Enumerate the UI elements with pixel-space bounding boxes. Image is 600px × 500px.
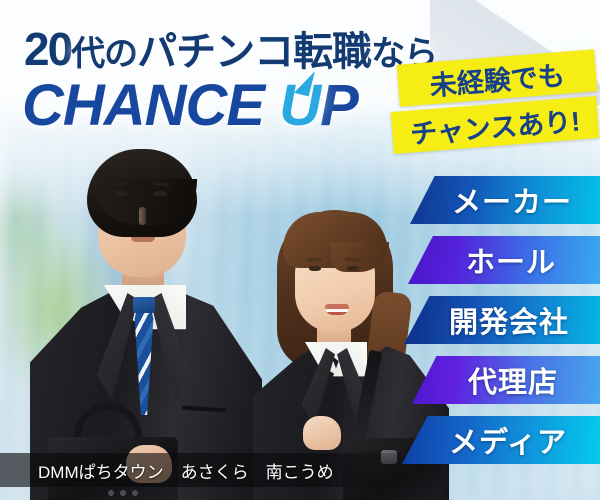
recruitment-banner: 20代のパチンコ転職なら CHANCE UP 未経験でも チャンスあり! メーカ… <box>0 0 600 500</box>
man-eye-left <box>114 191 127 196</box>
category-label-hall: ホール <box>452 239 556 281</box>
briefcase-studs <box>106 489 140 497</box>
credit-bar: DMMぱちタウン あさくら 南こうめ <box>0 453 412 487</box>
chance-up-logo: CHANCE UP <box>22 72 358 139</box>
woman-hand <box>303 416 341 450</box>
category-label-maker: メーカー <box>438 179 572 221</box>
credit-text: DMMぱちタウン あさくら 南こうめ <box>0 458 334 483</box>
category-button-agency[interactable]: 代理店 <box>412 356 600 404</box>
headline-number: 20 <box>24 23 71 75</box>
man-necktie-knot <box>133 297 155 313</box>
headline: 20代のパチンコ転職なら <box>24 19 437 77</box>
man-nose <box>139 207 146 225</box>
businessman-figure <box>30 145 265 500</box>
category-button-maker[interactable]: メーカー <box>410 176 600 224</box>
woman-smiling-mouth <box>325 304 349 315</box>
woman-eye-right <box>347 266 359 271</box>
category-label-development-company: 開発会社 <box>435 299 569 341</box>
category-list: メーカー ホール 開発会社 代理店 メディア <box>390 176 600 476</box>
category-button-hall[interactable]: ホール <box>408 236 600 284</box>
category-button-development-company[interactable]: 開発会社 <box>404 296 600 344</box>
woman-bangs <box>283 212 387 268</box>
headline-main: パチンコ転職 <box>137 30 371 74</box>
logo-letter-u: U <box>279 72 320 139</box>
man-mouth <box>131 237 155 242</box>
category-label-media: メディア <box>435 419 567 461</box>
category-label-agency: 代理店 <box>454 359 558 401</box>
man-eye-right <box>154 191 167 196</box>
category-button-media[interactable]: メディア <box>402 416 600 464</box>
logo-word-p: P <box>320 73 358 138</box>
logo-word-chance: CHANCE <box>22 73 264 138</box>
woman-eye-left <box>309 266 321 271</box>
headline-lead-rest: 代の <box>71 35 137 73</box>
people-photo <box>0 140 420 500</box>
